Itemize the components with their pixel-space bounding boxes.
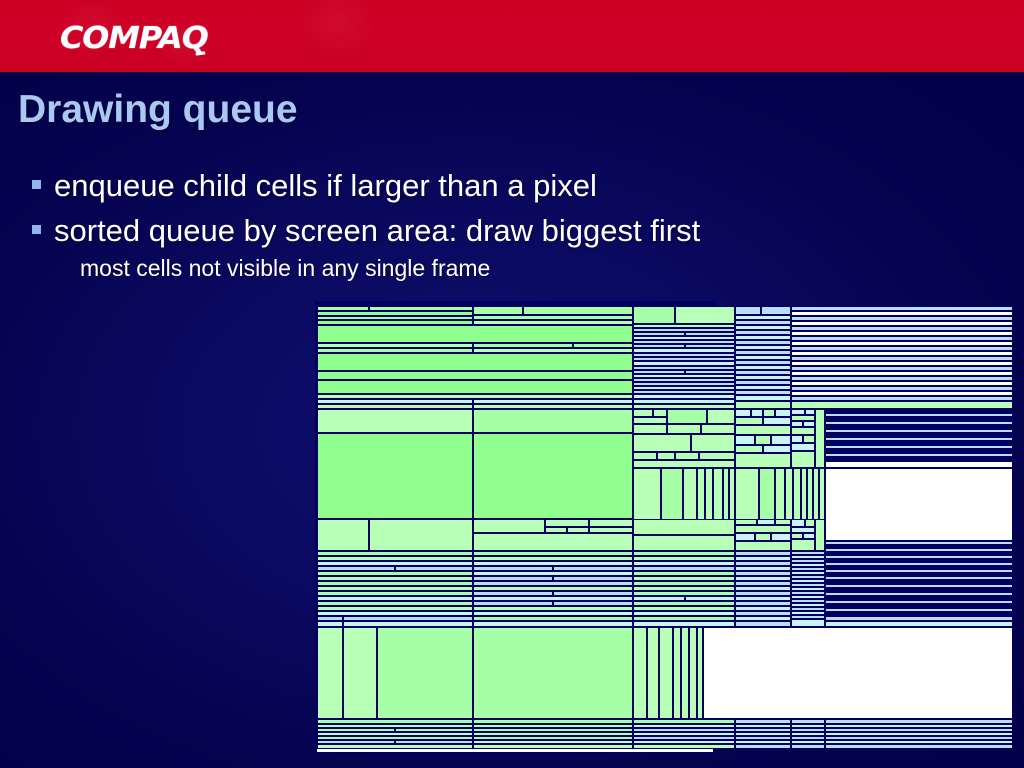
treemap-cell [791,443,815,451]
treemap-cell [317,409,473,433]
treemap-cell [755,533,771,541]
treemap-cell [803,435,815,443]
figure-container [317,303,713,752]
treemap-cell [589,519,633,527]
treemap-cell [689,627,697,719]
treemap-cell [633,744,735,749]
compaq-logo: COMPAQ [60,21,208,56]
treemap-cell [317,744,473,749]
treemap-cell [771,435,791,445]
treemap-cell [667,424,701,434]
treemap-cell [735,541,791,551]
treemap-cell [791,619,825,627]
treemap-cell [763,445,791,453]
square-bullet-icon [32,225,41,234]
treemap-cell [633,460,735,468]
treemap-cell [473,306,523,315]
treemap-cell [735,401,791,409]
treemap-cell [633,535,735,551]
treemap-cell [633,627,647,719]
treemap-cell [675,306,735,324]
treemap-cell [473,627,633,719]
treemap-cell [771,533,791,541]
treemap-cell [633,306,675,324]
treemap-cell [735,417,763,425]
treemap-cell [369,519,473,551]
treemap-cell [735,409,751,417]
treemap-cell [755,435,771,445]
treemap-cell [659,627,673,719]
treemap-cell [735,744,791,749]
treemap-cell [815,519,825,551]
treemap-cell [633,417,667,424]
treemap-cell [751,409,763,417]
treemap-cell [825,461,1013,468]
treemap-cell [667,409,707,424]
treemap-cell [825,744,1013,749]
treemap-cell [473,744,633,749]
treemap-cell [735,306,761,315]
bullet-text-2: sorted queue by screen area: draw bigges… [54,210,700,251]
treemap-cell [735,453,791,468]
bullet-text-1: enqueue child cells if larger than a pix… [54,165,597,206]
treemap-cell [317,371,633,380]
treemap-cell [735,533,755,541]
treemap-cell [317,353,633,371]
treemap-cell [775,409,791,417]
treemap-cell [761,306,791,315]
compaq-logo-text: COMPAQ [60,21,208,56]
treemap-cell [703,627,1013,719]
treemap-cell [791,744,825,749]
treemap-cell [317,380,633,394]
bullet-list: enqueue child cells if larger than a pix… [32,165,992,282]
treemap-cell [317,433,473,519]
treemap-cell [791,519,805,527]
treemap-cell [473,519,545,533]
treemap-cell [647,627,659,719]
slide-title: Drawing queue [18,88,298,132]
treemap-cell [735,525,791,533]
treemap-cell [791,539,815,551]
treemap-cell [791,435,803,443]
treemap-cell [735,445,763,453]
treemap-cell [545,519,589,527]
treemap-cell [317,627,343,719]
treemap-cell [701,424,735,434]
treemap-cell [735,425,791,435]
sub-bullet-text: most cells not visible in any single fra… [80,255,992,282]
treemap-cell [763,417,791,425]
treemap-cell [523,306,633,315]
treemap-cell [675,452,699,460]
treemap-cell [763,409,775,417]
treemap-cell [825,468,1013,541]
treemap-cell [377,627,473,719]
treemap-cell [673,627,681,719]
treemap-cell [707,409,735,424]
square-bullet-icon [32,180,41,189]
treemap-cell [633,409,653,417]
treemap-cell [805,519,815,527]
treemap-cell [657,452,675,460]
treemap-cell [699,452,735,460]
treemap-cell [791,427,815,435]
treemap-cell [791,451,815,468]
treemap-cell [633,452,657,460]
treemap-subdivision-diagram [317,303,713,752]
treemap-cell [815,409,825,468]
bullet-item-1: enqueue child cells if larger than a pix… [32,165,992,206]
treemap-cell [791,401,1013,409]
treemap-cell [633,434,691,452]
slide: COMPAQ Drawing queue enqueue child cells… [0,0,1024,768]
treemap-cell [681,627,689,719]
treemap-cell [317,519,369,551]
treemap-cell [343,627,377,719]
treemap-cell [473,433,633,519]
treemap-cell [633,424,667,434]
bullet-item-2: sorted queue by screen area: draw bigges… [32,210,992,251]
treemap-cell [735,435,755,445]
treemap-cell [653,409,667,417]
treemap-cell [317,325,633,343]
treemap-cell [633,519,735,535]
treemap-cell [691,434,735,452]
brand-banner: COMPAQ [0,0,1024,72]
treemap-cell [473,409,633,433]
treemap-cell [473,533,633,551]
